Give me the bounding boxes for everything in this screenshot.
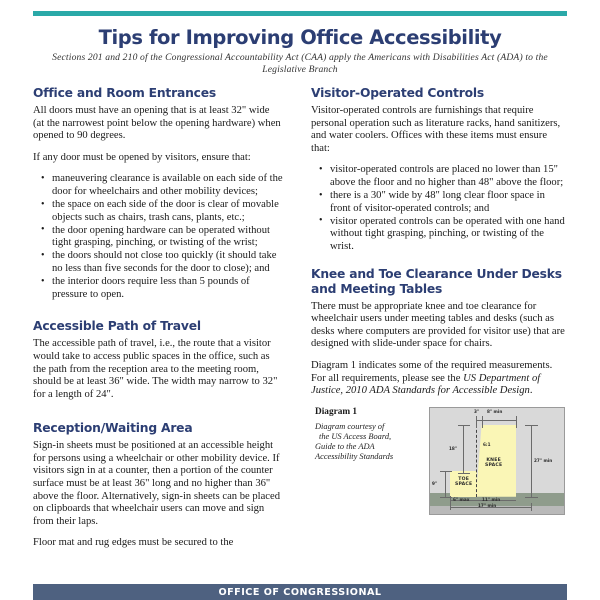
diagram-annotation-right: 27" min — [534, 458, 552, 463]
footer-bar: OFFICE OF CONGRESSIONAL — [33, 584, 567, 600]
paragraph: Visitor-operated controls are furnishing… — [311, 105, 567, 155]
dim-line — [482, 416, 483, 428]
diagram-annotation-knee-space: KNEESPACE — [485, 458, 502, 468]
list-item: the door opening hardware can be operate… — [52, 225, 283, 250]
section-heading-reception-waiting: Reception/Waiting Area — [33, 421, 283, 436]
page-subtitle: Sections 201 and 210 of the Congressiona… — [52, 52, 548, 77]
diagram-annotation-top-right: 8" min — [487, 409, 502, 414]
diagram-block: Diagram 1 Diagram courtesy of the US Acc… — [311, 407, 567, 519]
dim-line — [463, 425, 464, 473]
paragraph: If any door must be opened by visitors, … — [33, 152, 283, 165]
diagram-credit: Diagram courtesy of the US Access Board,… — [315, 422, 411, 463]
credit-line: the US Access Board, — [315, 432, 411, 442]
dim-line — [458, 425, 470, 426]
list-item: maneuvering clearance is available on ea… — [52, 173, 283, 198]
section-heading-knee-toe-clearance: Knee and Toe Clearance Under Desks and M… — [311, 267, 567, 297]
spacer — [33, 410, 283, 421]
paragraph: There must be appropriate knee and toe c… — [311, 301, 567, 351]
diagram-annotation-toe-space: TOESPACE — [455, 477, 472, 487]
paragraph: The accessible path of travel, i.e., the… — [33, 338, 283, 401]
list-item: visitor-operated controls are placed no … — [330, 164, 567, 189]
diagram-caption-column: Diagram 1 Diagram courtesy of the US Acc… — [315, 407, 411, 463]
credit-line: Diagram courtesy of — [315, 422, 384, 431]
list-item: there is a 30" wide by 48" long clear fl… — [330, 190, 567, 215]
spacer — [33, 308, 283, 319]
diagram-annotation-left-upper: 18" — [449, 446, 457, 451]
left-column: Office and Room Entrances All doors must… — [33, 86, 283, 559]
dim-line — [476, 420, 516, 421]
page-title: Tips for Improving Office Accessibility — [0, 26, 600, 49]
dim-line — [525, 497, 538, 498]
dim-line — [476, 416, 477, 428]
credit-line: Standards — [359, 452, 393, 461]
list-item: the interior doors require less than 5 p… — [52, 276, 283, 301]
paragraph-truncated: Floor mat and rug edges must be secured … — [33, 537, 283, 550]
list-item: the space on each side of the door is cl… — [52, 199, 283, 224]
diagram-intro-suffix: . — [530, 385, 533, 396]
dim-line — [525, 425, 538, 426]
diagram-intro-paragraph: Diagram 1 indicates some of the required… — [311, 360, 567, 398]
diagram-annotation-top-left: 3" — [474, 409, 479, 414]
dim-line — [445, 471, 446, 497]
credit-line: Accessibility — [315, 452, 357, 461]
document-page: Tips for Improving Office Accessibility … — [0, 0, 600, 600]
credit-line: Guide to the ADA — [315, 442, 374, 451]
top-accent-rule — [33, 11, 567, 16]
right-column: Visitor-Operated Controls Visitor-operat… — [311, 86, 567, 519]
diagram-label: Diagram 1 — [315, 407, 411, 417]
dim-line — [458, 473, 470, 474]
dim-line — [516, 416, 517, 428]
section-heading-office-entrances: Office and Room Entrances — [33, 86, 283, 101]
footer-text: OFFICE OF CONGRESSIONAL — [33, 584, 567, 600]
diagram-annotation-slope: 6:1 — [483, 442, 491, 447]
paragraph: All doors must have an opening that is a… — [33, 105, 283, 143]
bullet-list-visitor-controls: visitor-operated controls are placed no … — [311, 164, 567, 253]
list-item: the doors should not close too quickly (… — [52, 250, 283, 275]
diagram-annotation-bottom-mid: 11" min — [482, 497, 500, 502]
diagram-annotation-bottom-left: 6" max — [453, 497, 469, 502]
diagram-annotation-left-lower: 9" — [432, 481, 437, 486]
dim-line — [440, 471, 452, 472]
diagram-centerline — [476, 425, 477, 497]
paragraph: Sign-in sheets must be positioned at an … — [33, 440, 283, 528]
section-heading-path-of-travel: Accessible Path of Travel — [33, 319, 283, 334]
list-item: visitor operated controls can be operate… — [330, 216, 567, 254]
dim-line — [531, 425, 532, 497]
dim-line — [531, 503, 532, 511]
knee-toe-clearance-diagram: 3" 8" min 18" 9" 27" min 6:1 KNEESPACE T… — [429, 407, 565, 515]
section-heading-visitor-controls: Visitor-Operated Controls — [311, 86, 567, 101]
dim-line — [450, 496, 451, 510]
diagram-annotation-bottom-full: 17" min — [478, 503, 496, 508]
bullet-list-entrances: maneuvering clearance is available on ea… — [33, 173, 283, 301]
